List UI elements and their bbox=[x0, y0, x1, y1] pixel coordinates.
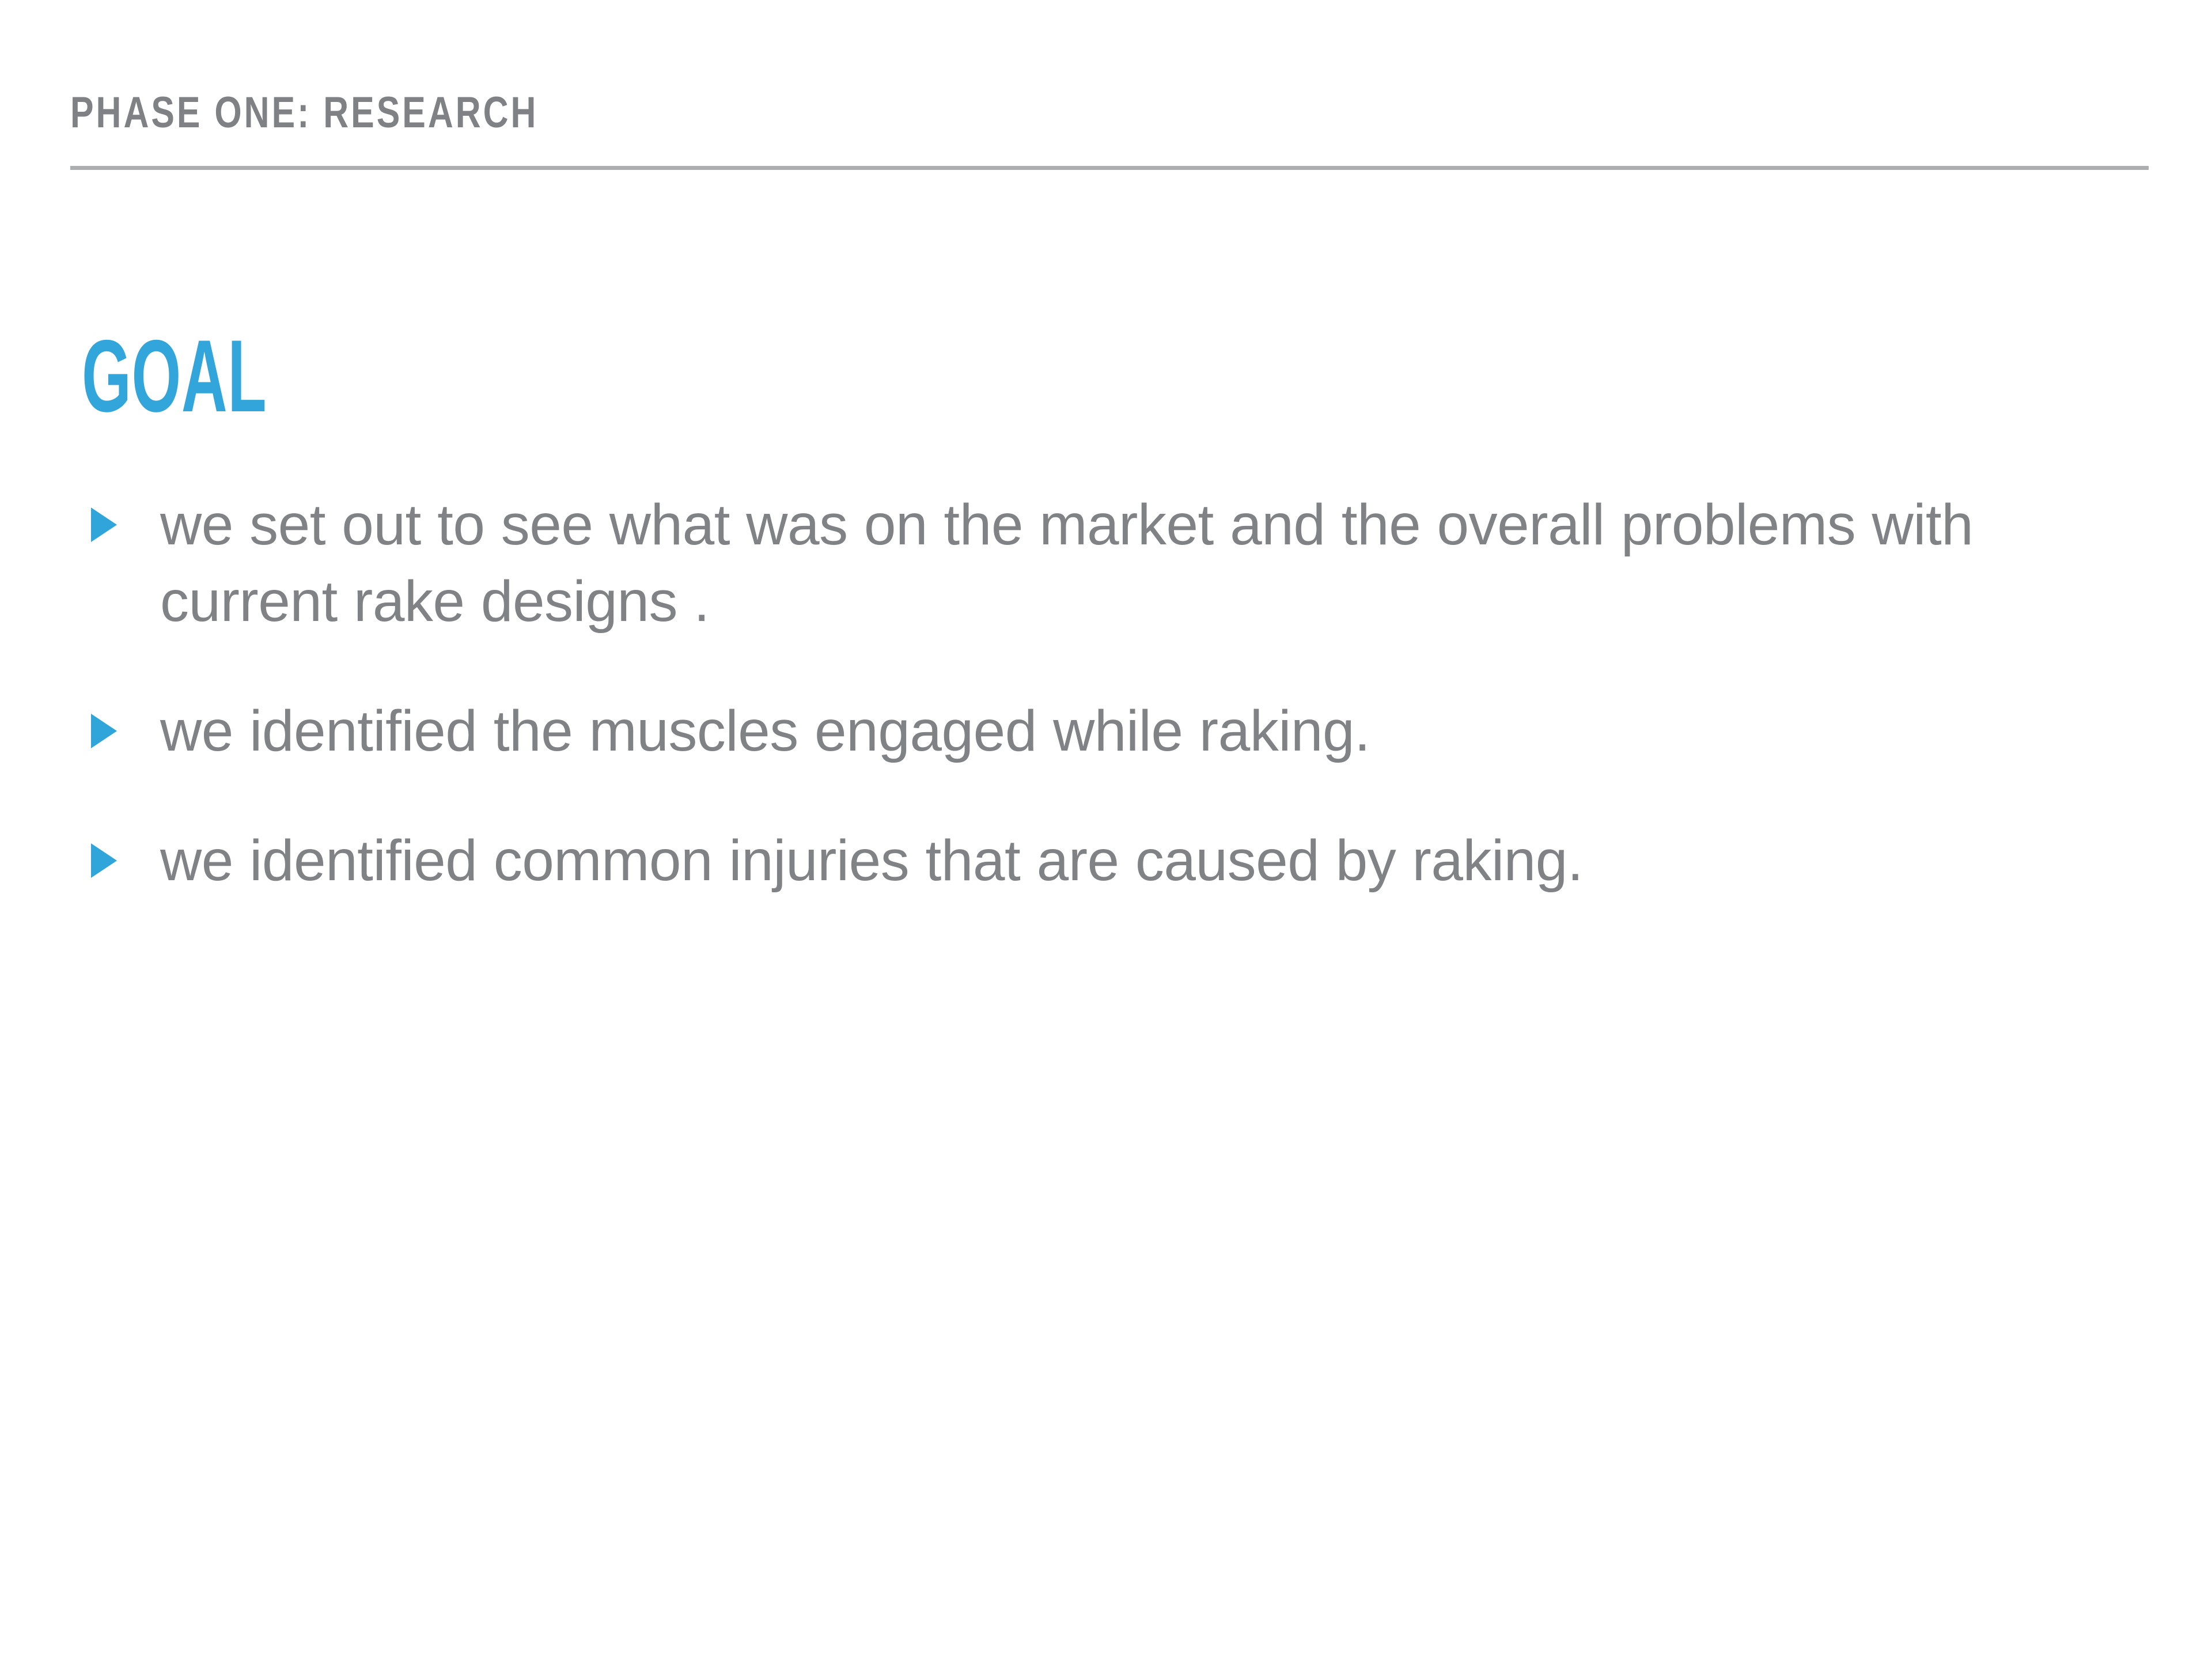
slide-eyebrow-label: PHASE ONE: RESEARCH bbox=[70, 86, 1734, 139]
slide-header: PHASE ONE: RESEARCH bbox=[70, 86, 2150, 139]
page-title: GOAL bbox=[82, 325, 267, 427]
list-item: we identified the muscles engaged while … bbox=[86, 693, 2137, 770]
list-item: we identified common injuries that are c… bbox=[86, 823, 2137, 899]
list-item-text: we identified common injuries that are c… bbox=[160, 823, 2137, 899]
list-item-text: we identified the muscles engaged while … bbox=[160, 693, 2137, 770]
triangle-bullet-icon bbox=[91, 507, 117, 542]
triangle-bullet-icon bbox=[91, 843, 117, 878]
header-divider-rule bbox=[70, 166, 2149, 170]
list-item: we set out to see what was on the market… bbox=[86, 487, 2137, 640]
bullet-list: we set out to see what was on the market… bbox=[86, 487, 2137, 899]
triangle-bullet-icon bbox=[91, 714, 117, 748]
presentation-slide: PHASE ONE: RESEARCH GOAL we set out to s… bbox=[0, 0, 2212, 1659]
list-item-text: we set out to see what was on the market… bbox=[160, 487, 2137, 640]
